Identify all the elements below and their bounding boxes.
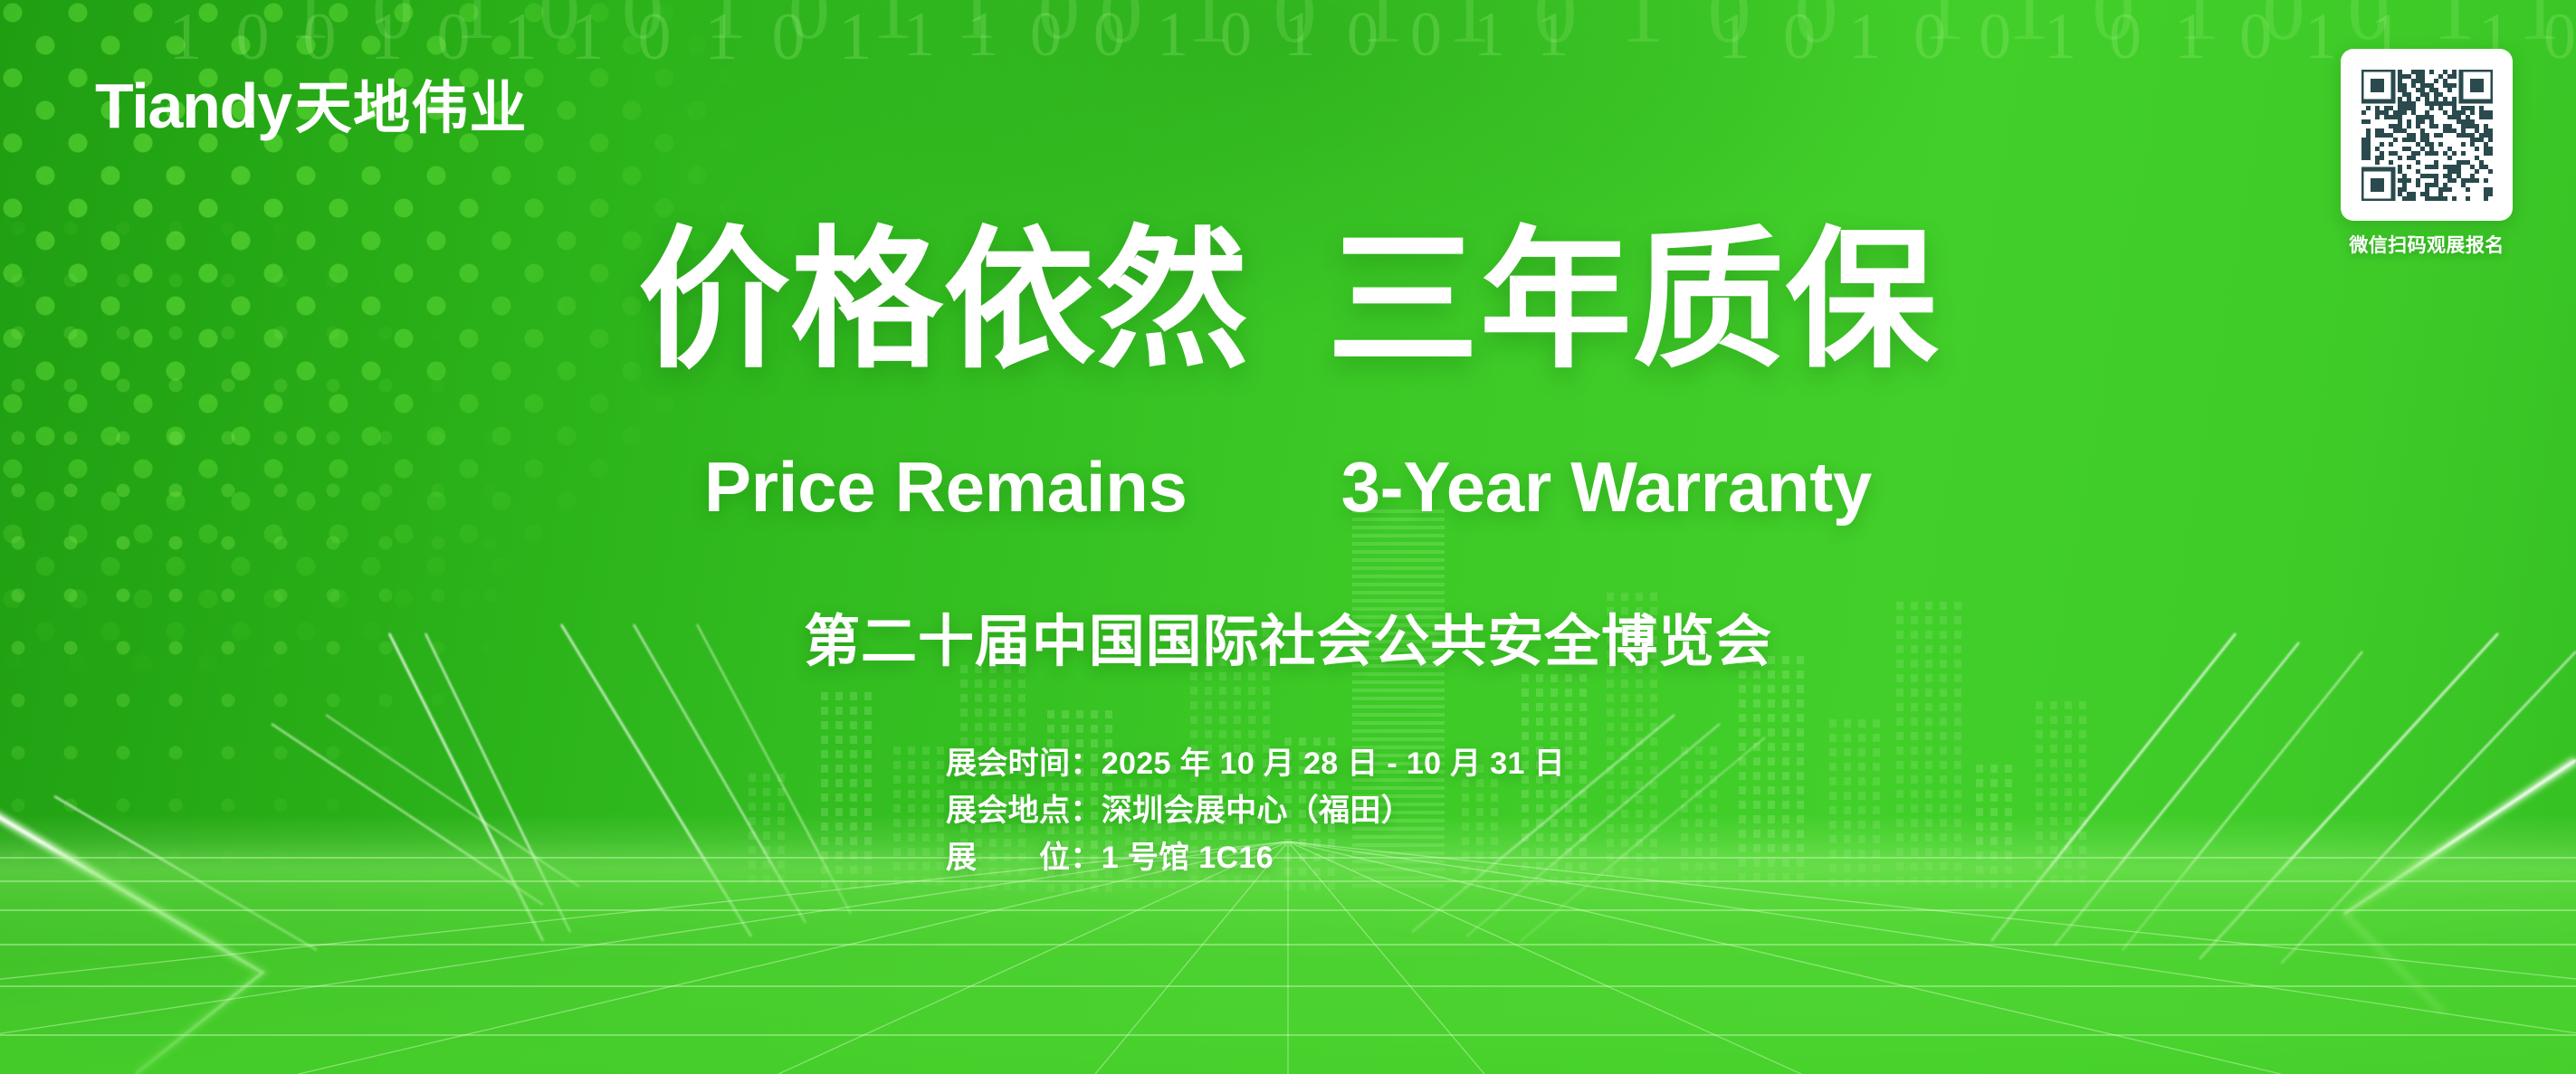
headline-chinese: 价格依然三年质保 [0,220,2576,381]
detail-value-date: 2025 年 10 月 28 日 - 10 月 31 日 [1102,740,1565,787]
detail-row-venue: 展会地点：深圳会展中心（福田） [946,787,1565,834]
detail-label-venue: 展会地点： [946,787,1102,834]
subheadline-english-right: 3-Year Warranty [1341,447,1872,527]
subheadline-block: Price Remains3-Year Warranty [0,448,2576,527]
subheadline-english-left: Price Remains [704,447,1188,527]
detail-label-booth: 展 位： [946,834,1102,881]
detail-value-venue: 深圳会展中心（福田） [1102,787,1412,834]
headline-block: 价格依然三年质保 [0,220,2576,381]
detail-label-date: 展会时间： [946,740,1102,787]
headline-chinese-left: 价格依然 [638,215,1249,385]
qr-code-icon[interactable] [2341,49,2513,221]
tiandy-logo: Tiandy 天地伟业 [95,74,528,138]
expo-title: 第二十届中国国际社会公共安全博览会 [0,612,2576,673]
detail-value-booth: 1 号馆 1C16 [1102,834,1274,881]
qr-registration-block[interactable]: 微信扫码观展报名 [2341,49,2513,258]
expo-details: 展会时间：2025 年 10 月 28 日 - 10 月 31 日 展会地点：深… [946,740,1565,881]
logo-wordmark: Tiandy [95,74,291,138]
logo-chinese-name: 天地伟业 [295,81,528,138]
promo-banner: 1 0 1 0 1 1 0 1 0 0 10 1 1 0 1 0 0 1 0 1… [0,0,2576,1074]
detail-row-date: 展会时间：2025 年 10 月 28 日 - 10 月 31 日 [946,740,1565,787]
detail-row-booth: 展 位：1 号馆 1C16 [946,834,1565,881]
headline-chinese-right: 三年质保 [1327,215,1938,385]
qr-caption: 微信扫码观展报名 [2341,231,2513,258]
